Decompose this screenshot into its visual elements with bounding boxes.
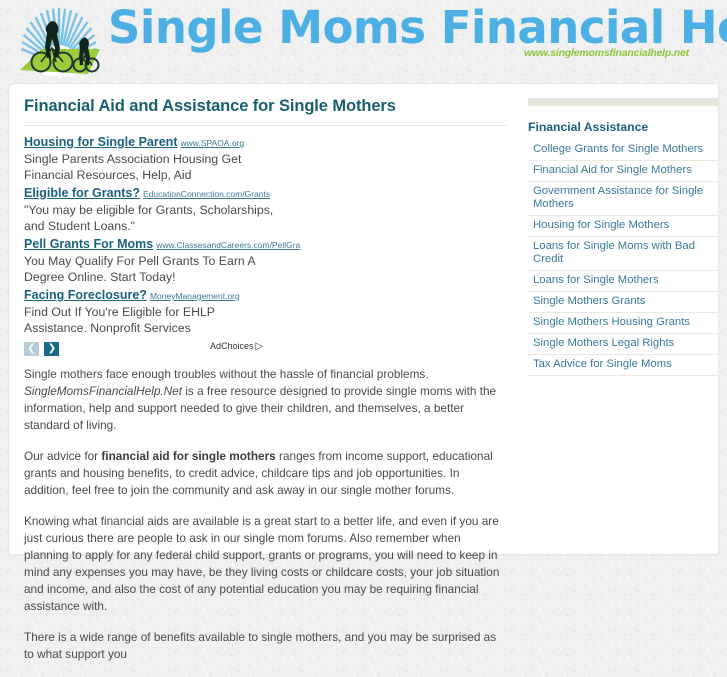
- sidebar-list-item: Financial Aid for Single Mothers: [528, 161, 720, 182]
- site-url-tagline: www.singlemomsfinancialhelp.net: [524, 47, 689, 59]
- ad-item: Facing Foreclosure?MoneyManagement.orgFi…: [24, 287, 504, 336]
- article-paragraph: Knowing what financial aids are availabl…: [24, 513, 502, 615]
- sidebar-item-link[interactable]: Single Mothers Housing Grants: [528, 313, 720, 333]
- ad-headline-row: Facing Foreclosure?MoneyManagement.org: [24, 287, 504, 304]
- sidebar-top-bar: [528, 98, 718, 106]
- content-panel: Financial Aid and Assistance for Single …: [9, 84, 718, 554]
- adchoices-link[interactable]: AdChoices▷: [210, 341, 263, 352]
- mother-and-child-bicycle-sunburst-icon: [12, 2, 107, 76]
- article-paragraph: Our advice for financial aid for single …: [24, 448, 502, 499]
- ad-url-link[interactable]: www.SPAOA.org: [181, 138, 245, 148]
- article-body: Single mothers face enough troubles with…: [24, 366, 502, 663]
- ad-item: Eligible for Grants?EducationConnection.…: [24, 185, 504, 234]
- sidebar-item-link[interactable]: Single Mothers Legal Rights: [528, 334, 720, 354]
- paragraph-text-run: Our advice for: [24, 449, 101, 463]
- sidebar-item-link[interactable]: Tax Advice for Single Moms: [528, 355, 720, 375]
- page-title: Financial Aid and Assistance for Single …: [15, 84, 507, 116]
- ad-next-arrow-icon[interactable]: ❯: [44, 342, 59, 356]
- sidebar-list-item: Loans for Single Moms with Bad Credit: [528, 237, 720, 271]
- sidebar-list-item: Tax Advice for Single Moms: [528, 355, 720, 376]
- sidebar: Financial Assistance College Grants for …: [519, 84, 718, 376]
- site-header: Single Moms Financial Help www.singlemom…: [0, 0, 727, 80]
- sidebar-link-list: College Grants for Single MothersFinanci…: [519, 140, 720, 376]
- article-paragraph: There is a wide range of benefits availa…: [24, 629, 502, 663]
- ad-item: Pell Grants For Momswww.ClassesandCareer…: [24, 236, 504, 285]
- sidebar-item-link[interactable]: Loans for Single Moms with Bad Credit: [528, 237, 720, 270]
- ad-list: Housing for Single Parentwww.SPAOA.orgSi…: [24, 134, 504, 336]
- ad-url-link[interactable]: www.ClassesandCareers.com/PellGra: [156, 240, 300, 250]
- ad-headline-row: Eligible for Grants?EducationConnection.…: [24, 185, 504, 202]
- ad-description: "You may be eligible for Grants, Scholar…: [24, 202, 274, 234]
- paragraph-text-run: financial aid for single mothers: [101, 449, 275, 463]
- ad-title-link[interactable]: Pell Grants For Moms: [24, 237, 153, 251]
- title-divider: [24, 125, 507, 126]
- sidebar-item-link[interactable]: Financial Aid for Single Mothers: [528, 161, 720, 181]
- ad-headline-row: Pell Grants For Momswww.ClassesandCareer…: [24, 236, 504, 253]
- sidebar-list-item: Government Assistance for Single Mothers: [528, 182, 720, 216]
- sidebar-list-item: Single Mothers Grants: [528, 292, 720, 313]
- paragraph-text-run: SingleMomsFinancialHelp.Net: [24, 384, 182, 398]
- ad-item: Housing for Single Parentwww.SPAOA.orgSi…: [24, 134, 504, 183]
- ad-block: Housing for Single Parentwww.SPAOA.orgSi…: [24, 134, 504, 358]
- sidebar-list-item: College Grants for Single Mothers: [528, 140, 720, 161]
- ad-description: Find Out If You're Eligible for EHLP Ass…: [24, 304, 274, 336]
- ad-footer: ❮ ❯ AdChoices▷: [24, 340, 274, 358]
- adchoices-label: AdChoices: [210, 341, 254, 351]
- ad-description: You May Qualify For Pell Grants To Earn …: [24, 253, 274, 285]
- sidebar-item-link[interactable]: Government Assistance for Single Mothers: [528, 182, 720, 215]
- sidebar-list-item: Loans for Single Mothers: [528, 271, 720, 292]
- sidebar-list-item: Housing for Single Mothers: [528, 216, 720, 237]
- logo-mark-icon[interactable]: [12, 2, 107, 76]
- ad-title-link[interactable]: Facing Foreclosure?: [24, 288, 147, 302]
- main-column: Financial Aid and Assistance for Single …: [15, 84, 507, 677]
- sidebar-heading: Financial Assistance: [528, 120, 718, 134]
- ad-title-link[interactable]: Eligible for Grants?: [24, 186, 140, 200]
- sidebar-list-item: Single Mothers Legal Rights: [528, 334, 720, 355]
- article-paragraph: Single mothers face enough troubles with…: [24, 366, 502, 434]
- ad-url-link[interactable]: MoneyManagement.org: [150, 291, 240, 301]
- sidebar-item-link[interactable]: College Grants for Single Mothers: [528, 140, 720, 160]
- ad-title-link[interactable]: Housing for Single Parent: [24, 135, 178, 149]
- ad-prev-arrow-icon[interactable]: ❮: [24, 342, 39, 356]
- sidebar-item-link[interactable]: Housing for Single Mothers: [528, 216, 720, 236]
- sidebar-item-link[interactable]: Loans for Single Mothers: [528, 271, 720, 291]
- paragraph-text-run: There is a wide range of benefits availa…: [24, 630, 496, 661]
- ad-url-link[interactable]: EducationConnection.com/Grants: [143, 189, 270, 199]
- paragraph-text-run: Single mothers face enough troubles with…: [24, 367, 429, 381]
- ad-headline-row: Housing for Single Parentwww.SPAOA.org: [24, 134, 504, 151]
- ad-description: Single Parents Association Housing Get F…: [24, 151, 274, 183]
- sidebar-item-link[interactable]: Single Mothers Grants: [528, 292, 720, 312]
- adchoices-triangle-icon: ▷: [256, 341, 264, 352]
- paragraph-text-run: Knowing what financial aids are availabl…: [24, 514, 499, 613]
- sidebar-list-item: Single Mothers Housing Grants: [528, 313, 720, 334]
